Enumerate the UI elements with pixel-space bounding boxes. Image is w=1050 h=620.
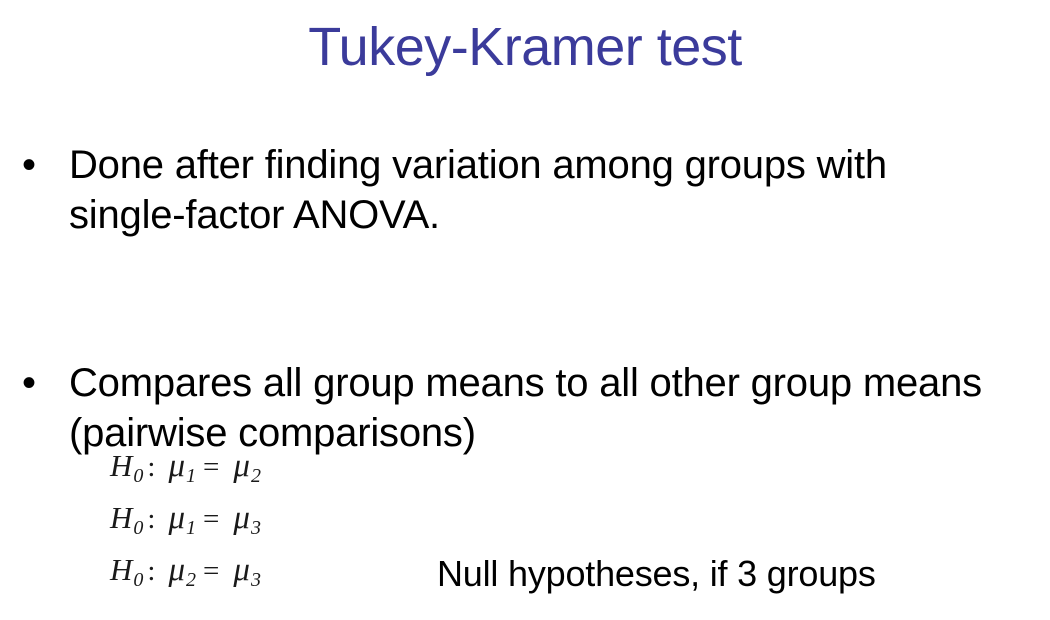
- mu-subscript-left: 1: [186, 517, 196, 540]
- equation-row: H0 : μ2 = μ3: [110, 552, 260, 604]
- mu-symbol-left: μ: [158, 448, 185, 485]
- bullet-point-icon: •: [22, 140, 52, 190]
- mu-symbol-right: μ: [223, 448, 250, 485]
- equals-sign: =: [195, 555, 223, 588]
- equation-row: H0 : μ1 = μ2: [110, 448, 260, 500]
- equation-colon: :: [142, 555, 158, 588]
- mu-subscript-right: 3: [251, 517, 261, 540]
- mu-subscript-right: 3: [251, 569, 261, 592]
- equations-caption: Null hypotheses, if 3 groups: [437, 552, 876, 596]
- list-item-text: Compares all group means to all other gr…: [69, 358, 1044, 458]
- equation-colon: :: [142, 451, 158, 484]
- hypothesis-symbol: H: [110, 448, 132, 484]
- page-title: Tukey-Kramer test: [0, 16, 1050, 78]
- slide-canvas: Tukey-Kramer test • Done after finding v…: [0, 0, 1050, 620]
- list-item-line: Compares all group means to all other gr…: [69, 358, 1044, 408]
- list-item: • Compares all group means to all other …: [14, 358, 1044, 458]
- list-item-line: Done after finding variation among group…: [69, 140, 1044, 190]
- equation-colon: :: [142, 503, 158, 536]
- hypothesis-symbol: H: [110, 552, 132, 588]
- hypothesis-subscript: 0: [133, 569, 143, 592]
- mu-symbol-left: μ: [158, 500, 185, 537]
- mu-subscript-right: 2: [251, 465, 261, 488]
- hypothesis-subscript: 0: [133, 517, 143, 540]
- mu-subscript-left: 2: [186, 569, 196, 592]
- equals-sign: =: [195, 503, 223, 536]
- equals-sign: =: [195, 451, 223, 484]
- list-item-line: single-factor ANOVA.: [69, 190, 1044, 240]
- bullet-list: • Done after finding variation among gro…: [14, 140, 1044, 458]
- equation-row: H0 : μ1 = μ3: [110, 500, 260, 552]
- mu-symbol-right: μ: [223, 552, 250, 589]
- hypothesis-subscript: 0: [133, 465, 143, 488]
- null-hypotheses-equations: H0 : μ1 = μ2 H0 : μ1 = μ3 H0 : μ2 = μ3: [110, 448, 260, 604]
- hypothesis-symbol: H: [110, 500, 132, 536]
- mu-subscript-left: 1: [186, 465, 196, 488]
- mu-symbol-right: μ: [223, 500, 250, 537]
- list-item: • Done after finding variation among gro…: [14, 140, 1044, 240]
- list-item-text: Done after finding variation among group…: [69, 140, 1044, 240]
- bullet-point-icon: •: [22, 358, 52, 408]
- mu-symbol-left: μ: [158, 552, 185, 589]
